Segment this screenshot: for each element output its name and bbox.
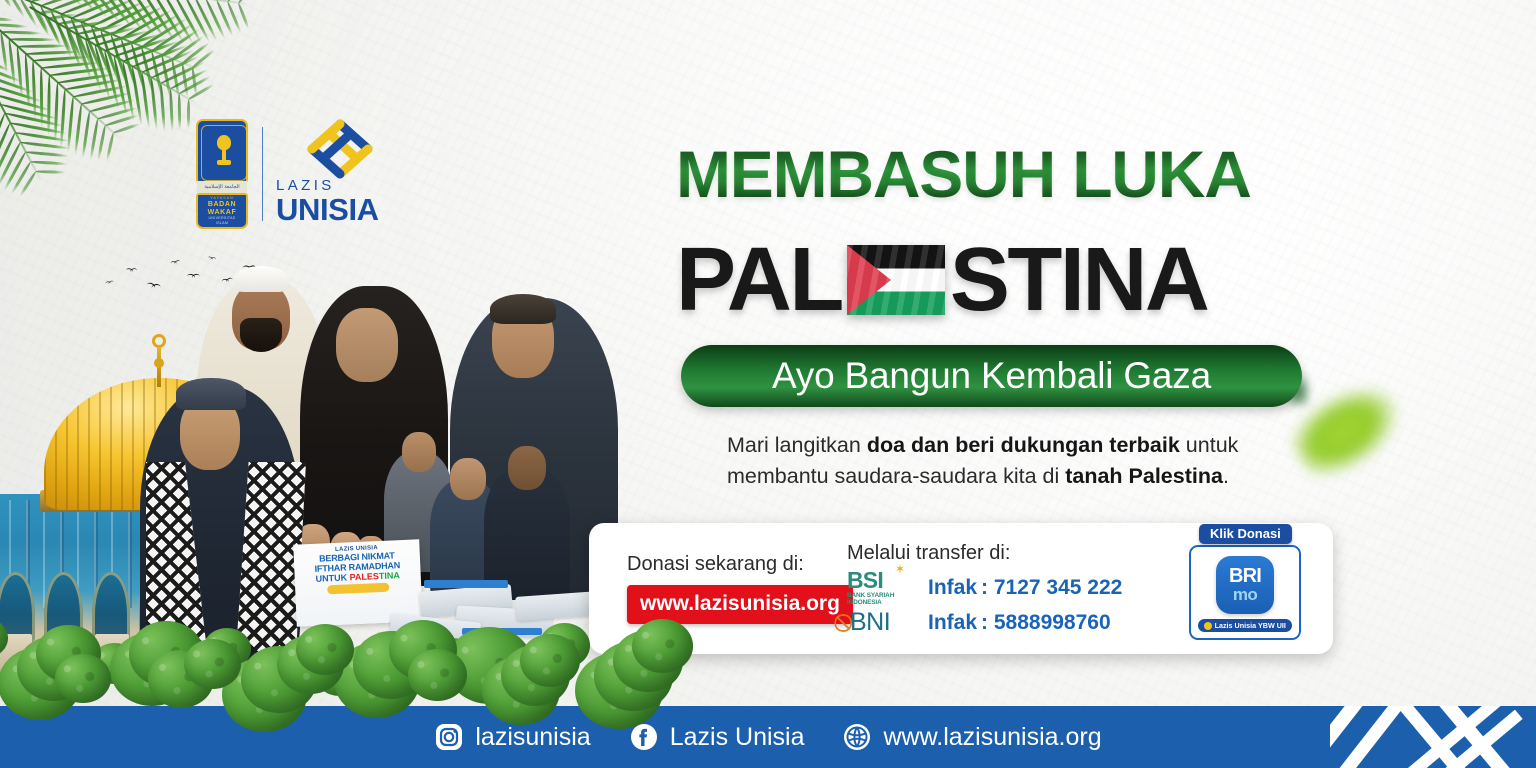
bsi-separator: : xyxy=(981,576,988,599)
bird-icon xyxy=(207,256,218,263)
uii-arabic-text: الجامعة الإسلامية xyxy=(197,181,247,193)
bush xyxy=(184,639,241,689)
donation-card-transfer: Melalui transfer di: ✶ BSI BANK SYARIAH … xyxy=(835,542,1170,636)
bni-account-number: 5888998760 xyxy=(994,611,1111,634)
unisia-label: UNISIA xyxy=(276,194,382,227)
bush xyxy=(296,624,354,675)
footer-chevron-decoration xyxy=(1330,706,1536,768)
brimo-bri-text: BRI xyxy=(1229,567,1261,586)
bsi-sub-1: BANK SYARIAH xyxy=(847,592,919,599)
uii-badan-label: BADAN xyxy=(198,201,246,208)
body-part-3: . xyxy=(1223,464,1229,488)
bush xyxy=(408,649,467,701)
brand-logo-group: الجامعة الإسلامية YAYASAN BADAN WAKAF UN… xyxy=(196,116,386,232)
bush xyxy=(55,654,111,703)
person-imam-cap xyxy=(234,266,288,292)
sign-pill xyxy=(327,583,389,595)
bsi-infak-label: Infak xyxy=(928,576,977,599)
body-copy: Mari langitkan doa dan beri dukungan ter… xyxy=(727,430,1287,491)
body-part-1: Mari langitkan xyxy=(727,433,867,457)
sign-line-3-c: TINA xyxy=(379,570,400,581)
palestine-flag-icon xyxy=(847,245,945,315)
footer-label-website: www.lazisunisia.org xyxy=(883,723,1101,752)
bird-icon xyxy=(187,274,201,281)
bush xyxy=(0,618,8,658)
bird-icon xyxy=(105,280,116,287)
brimo-box[interactable]: BRI mo Lazis Unisia YBW UII xyxy=(1189,545,1301,640)
footer-label-facebook: Lazis Unisia xyxy=(670,723,805,752)
person-woman-face xyxy=(336,308,398,382)
tray-label-1 xyxy=(424,580,508,588)
brimo-block[interactable]: Klik Donasi BRI mo Lazis Unisia YBW UII xyxy=(1189,537,1301,640)
bni-infak-label: Infak xyxy=(928,611,977,634)
brimo-app-icon[interactable]: BRI mo xyxy=(1216,556,1274,614)
headline-line-2: PAL STINA xyxy=(676,228,1316,332)
bank-row-bsi: ✶ BSI BANK SYARIAH INDONESIA Infak: 7127… xyxy=(847,569,1170,607)
lazis-label: LAZIS xyxy=(276,178,382,193)
headline-palestina-suffix: STINA xyxy=(950,235,1208,325)
lazis-unisia-logo: LAZIS UNISIA xyxy=(276,120,382,228)
bush xyxy=(632,619,693,673)
lazis-wordmark: LAZIS UNISIA xyxy=(276,178,382,227)
uii-torch-icon xyxy=(214,135,234,167)
brimo-dot-icon xyxy=(1204,622,1212,630)
lazis-diamond-icon xyxy=(302,118,378,180)
photo-collage: LAZIS UNISIA BERBAGI NIKMAT IFTHAR RAMAD… xyxy=(0,236,660,706)
footer-label-instagram: lazisunisia xyxy=(475,723,590,752)
body-bold-2: tanah Palestina xyxy=(1065,464,1223,488)
campaign-banner: LAZIS UNISIA BERBAGI NIKMAT IFTHAR RAMAD… xyxy=(0,0,1536,768)
headline-line-1: MEMBASUH LUKA xyxy=(676,143,1316,206)
bird-icon xyxy=(221,277,235,286)
brimo-account-name: Lazis Unisia YBW UII xyxy=(1198,619,1292,632)
bsi-account: Infak: 7127 345 222 xyxy=(928,576,1122,600)
logo-divider xyxy=(262,127,263,221)
bsi-sub-2: INDONESIA xyxy=(847,599,919,606)
bni-wordmark: BNI xyxy=(850,610,890,635)
sign-line-3-b: PALES xyxy=(349,571,379,582)
donation-card-left: Donasi sekarang di: www.lazisunisia.org xyxy=(589,553,835,624)
footer-item-facebook[interactable]: Lazis Unisia xyxy=(629,722,805,752)
body-bold-1: doa dan beri dukungan terbaik xyxy=(867,433,1180,457)
bsi-account-number: 7127 345 222 xyxy=(994,576,1122,599)
bsi-logo: ✶ BSI BANK SYARIAH INDONESIA xyxy=(847,569,919,607)
bush xyxy=(520,634,580,687)
person-imam-beard xyxy=(240,318,282,352)
footer-item-instagram[interactable]: lazisunisia xyxy=(434,722,590,752)
instagram-icon xyxy=(434,722,464,752)
bsi-wordmark: BSI xyxy=(847,569,919,592)
donate-now-label: Donasi sekarang di: xyxy=(627,553,835,576)
uii-indonesia-label: INDONESIA xyxy=(198,227,246,229)
footer-item-website[interactable]: www.lazisunisia.org xyxy=(842,722,1101,752)
subheadline-pill: Ayo Bangun Kembali Gaza xyxy=(681,345,1302,407)
bni-separator: : xyxy=(981,611,988,634)
bni-logo: ⃠ BNI xyxy=(847,610,919,635)
brimo-mo-text: mo xyxy=(1233,586,1257,603)
dome-finial xyxy=(150,334,168,386)
brimo-account-label: Lazis Unisia YBW UII xyxy=(1215,621,1286,630)
sign-line-3-a: UNTUK xyxy=(315,573,349,584)
subheadline-text: Ayo Bangun Kembali Gaza xyxy=(772,355,1211,397)
headline-palestina-prefix: PAL xyxy=(676,235,842,325)
uii-crest xyxy=(196,119,248,183)
bush-row xyxy=(0,596,660,716)
uii-badan-wakaf-logo: الجامعة الإسلامية YAYASAN BADAN WAKAF UN… xyxy=(196,119,248,229)
bank-row-bni: ⃠ BNI Infak: 5888998760 xyxy=(847,610,1170,635)
donation-card-brimo: Klik Donasi BRI mo Lazis Unisia YBW UII xyxy=(1170,537,1320,640)
bird-icon xyxy=(126,268,139,274)
uii-badan-wakaf-plate: YAYASAN BADAN WAKAF UNIVERSITAS ISLAM IN… xyxy=(196,193,248,229)
bni-account: Infak: 5888998760 xyxy=(928,611,1111,635)
person-youth-cap xyxy=(176,378,246,410)
klik-donasi-badge[interactable]: Klik Donasi xyxy=(1199,524,1292,544)
bird-icon xyxy=(170,260,182,268)
bird-icon xyxy=(145,282,162,293)
person-man-hair xyxy=(490,294,556,324)
globe-icon xyxy=(842,722,872,752)
donation-card: Donasi sekarang di: www.lazisunisia.org … xyxy=(589,523,1333,654)
uii-wakaf-label: WAKAF xyxy=(198,209,246,216)
bsi-star-icon: ✶ xyxy=(895,564,906,575)
